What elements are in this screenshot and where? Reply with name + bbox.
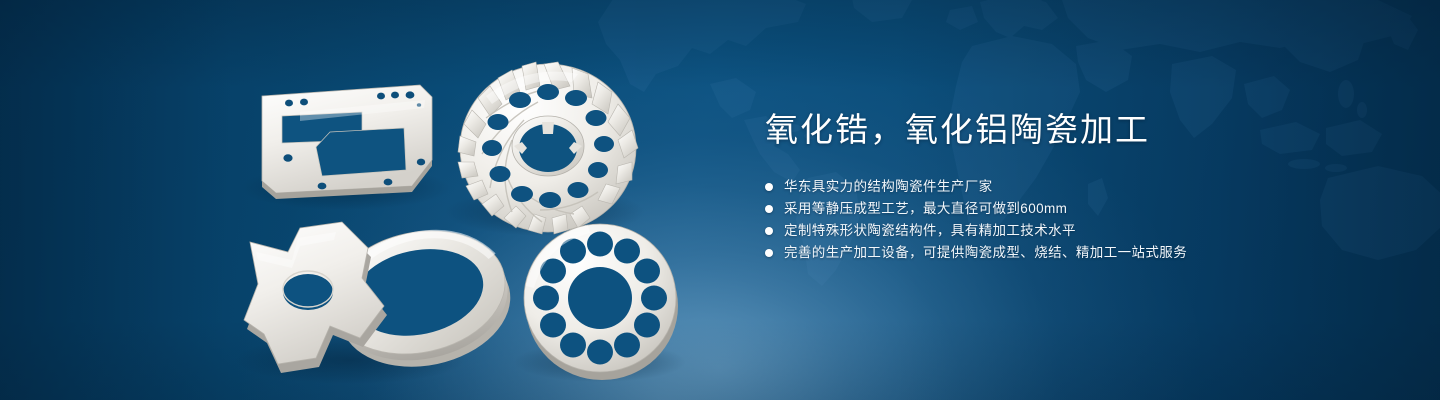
ceramic-plate-shape — [262, 85, 432, 199]
bullet-dot-icon — [765, 205, 773, 213]
feature-text: 采用等静压成型工艺，最大直径可做到600mm — [784, 198, 1067, 220]
list-item: 华东具实力的结构陶瓷件生产厂家 — [765, 176, 1385, 198]
feature-list: 华东具实力的结构陶瓷件生产厂家 采用等静压成型工艺，最大直径可做到600mm 定… — [765, 176, 1385, 264]
hero-banner: 氧化锆，氧化铝陶瓷加工 华东具实力的结构陶瓷件生产厂家 采用等静压成型工艺，最大… — [0, 0, 1440, 400]
bullet-dot-icon — [765, 227, 773, 235]
feature-text: 完善的生产加工设备，可提供陶瓷成型、烧结、精加工一站式服务 — [784, 242, 1187, 264]
ceramic-hole-disc-shape — [524, 224, 678, 380]
list-item: 完善的生产加工设备，可提供陶瓷成型、烧结、精加工一站式服务 — [765, 242, 1385, 264]
feature-text: 定制特殊形状陶瓷结构件，具有精加工技术水平 — [784, 220, 1076, 242]
product-photo-group — [0, 0, 730, 400]
feature-text: 华东具实力的结构陶瓷件生产厂家 — [784, 176, 993, 198]
list-item: 采用等静压成型工艺，最大直径可做到600mm — [765, 198, 1385, 220]
bullet-dot-icon — [765, 183, 773, 191]
bullet-dot-icon — [765, 249, 773, 257]
list-item: 定制特殊形状陶瓷结构件，具有精加工技术水平 — [765, 220, 1385, 242]
banner-copy: 氧化锆，氧化铝陶瓷加工 华东具实力的结构陶瓷件生产厂家 采用等静压成型工艺，最大… — [765, 108, 1385, 264]
page-title: 氧化锆，氧化铝陶瓷加工 — [765, 108, 1385, 152]
